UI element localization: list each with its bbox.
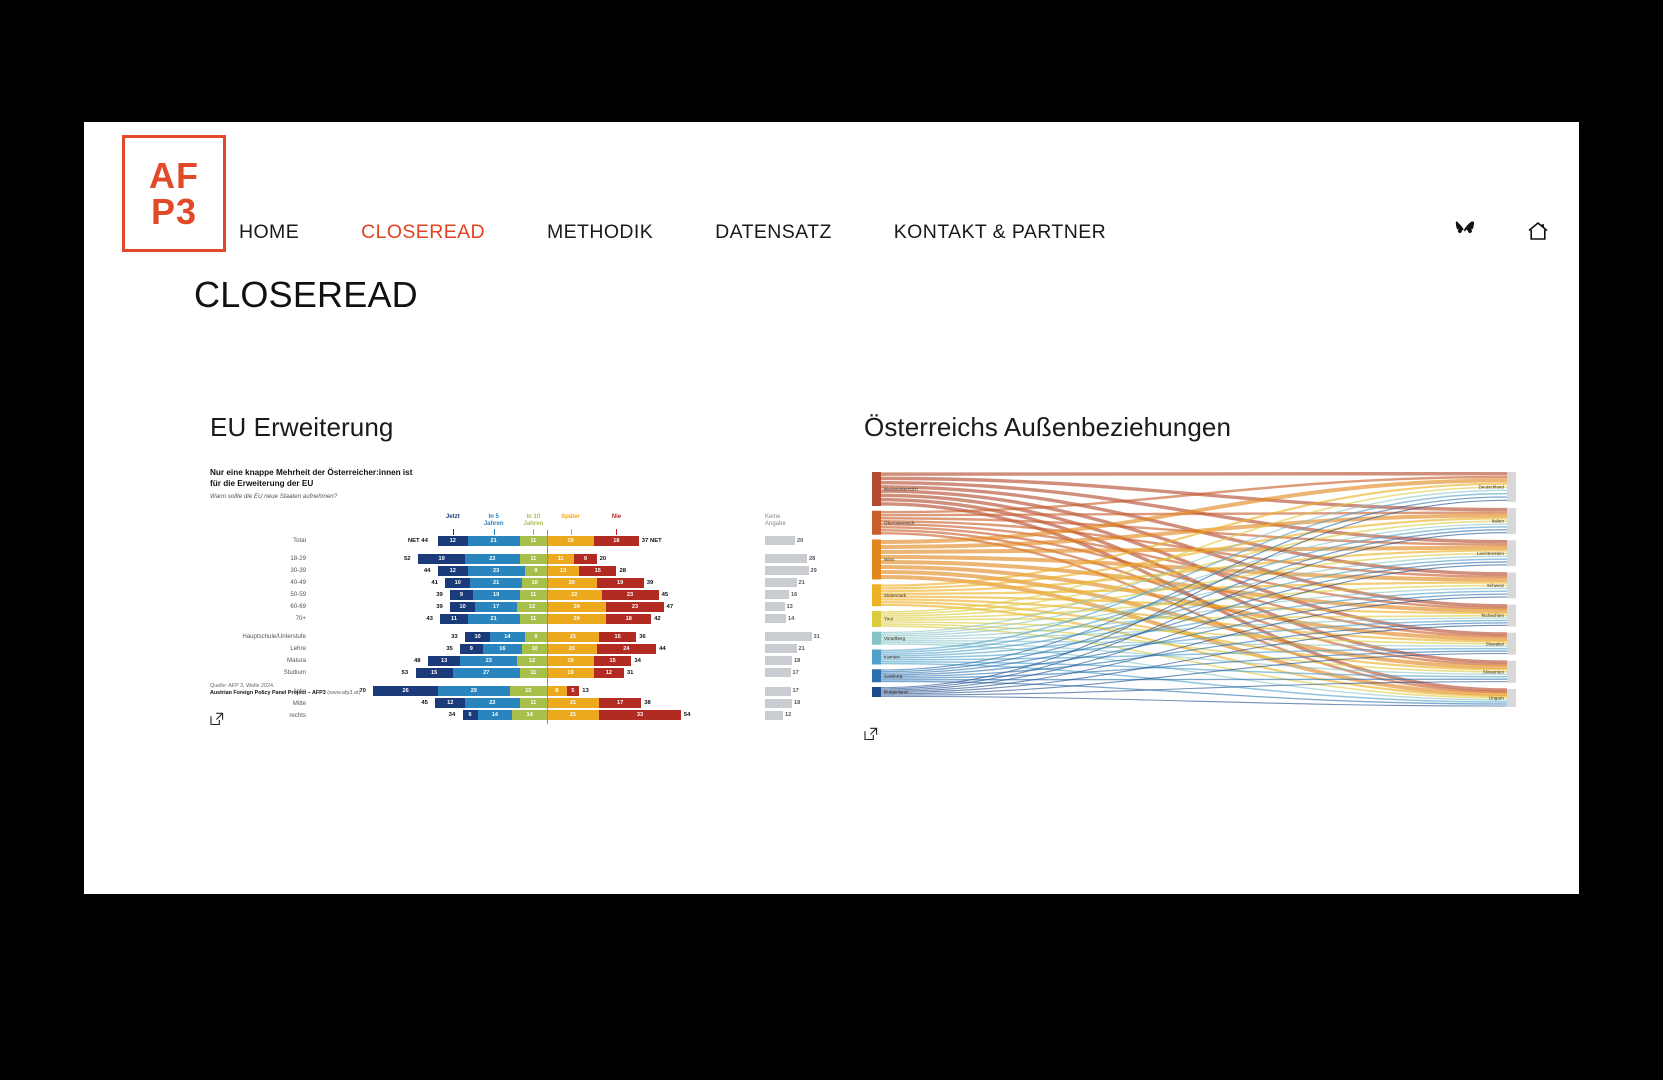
- bar-segment: 18: [594, 536, 639, 546]
- stacked-bar: 1527111912: [416, 668, 624, 678]
- keine-angabe-bar: [765, 699, 792, 708]
- bar-segment: 18: [606, 614, 651, 624]
- stacked-bar: 1323121915: [428, 656, 631, 666]
- keine-angabe-value: 17: [793, 688, 799, 694]
- bar-segment: 6: [463, 710, 478, 720]
- bar-segment: 11: [520, 536, 547, 546]
- external-link-icon[interactable]: [864, 727, 878, 741]
- row-label: links: [210, 688, 306, 695]
- bar-segment: 15: [416, 668, 453, 678]
- bar-segment: 5: [567, 686, 579, 696]
- home-icon[interactable]: [1525, 218, 1551, 244]
- net-left-value: 52: [404, 556, 411, 562]
- keine-angabe-bar: [765, 687, 791, 696]
- bar-segment: 11: [520, 698, 547, 708]
- legend-label-nie: Nie: [612, 514, 621, 521]
- stacked-bar: 192211119: [418, 554, 597, 564]
- keine-angabe-value: 21: [799, 646, 805, 652]
- app-page: AF P3 HOME CLOSEREAD METHODIK DATENSATZ …: [84, 122, 1579, 894]
- bar-segment: 29: [438, 686, 510, 696]
- eu-diverging-bar-chart: JetztIn 5 JahrenIn 10 JahrenSpäterNie To…: [210, 514, 830, 674]
- row-bar-area: 122391315442829: [310, 566, 830, 577]
- bar-segment: 11: [520, 614, 547, 624]
- row-bar-area: 1121112418434214: [310, 614, 830, 625]
- bar-segment: 12: [517, 602, 547, 612]
- bar-segment: 9: [525, 632, 547, 642]
- keine-angabe-value: 21: [799, 580, 805, 586]
- keine-angabe-bar: [765, 590, 789, 599]
- row-bar-area: 1527111912533117: [310, 668, 830, 679]
- sankey-source-node-label: Steiermark: [884, 593, 907, 598]
- chart-row: 60-691017122423394713: [210, 602, 830, 613]
- bar-segment: 26: [373, 686, 437, 696]
- net-right-value: 31: [627, 670, 634, 676]
- row-label: Studium: [210, 669, 306, 676]
- chart-row: 40-491021102019413921: [210, 578, 830, 589]
- bar-segment: 11: [520, 668, 547, 678]
- stacked-bar: 1221111918: [438, 536, 639, 546]
- sankey-source-node-label: Tirol: [884, 617, 893, 622]
- net-left-value: 53: [402, 670, 409, 676]
- keine-angabe-value: 16: [791, 592, 797, 598]
- bar-segment: 21: [468, 614, 520, 624]
- chart-row: 18-29192211119522028: [210, 554, 830, 565]
- sankey-source-node-label: Oberösterreich: [884, 520, 915, 525]
- sankey-target-node-label: Ungarn: [1489, 696, 1505, 701]
- net-left-value: NET 44: [408, 538, 428, 544]
- bar-segment: 9: [525, 566, 547, 576]
- keine-angabe-bar: [765, 536, 795, 545]
- sankey-target-node-label: Deutschland: [1478, 485, 1504, 490]
- eu-figure-headline: Nur eine knappe Mehrheit der Österreiche…: [210, 468, 830, 490]
- sankey-source-node-label: Niederösterreich: [884, 487, 918, 492]
- legend-tick: [533, 529, 534, 535]
- bar-segment: 14: [490, 632, 525, 642]
- sankey-source-node[interactable]: [872, 472, 881, 506]
- sankey-target-node[interactable]: [1507, 540, 1516, 566]
- keine-angabe-value: 18: [794, 658, 800, 664]
- keine-angabe-value: 31: [814, 634, 820, 640]
- chart-row: Total1221111918NET 4437 NET20: [210, 536, 830, 547]
- bar-segment: 14: [478, 710, 513, 720]
- sankey-source-node-label: Salzburg: [884, 673, 903, 678]
- chart-row: 70+1121112418434214: [210, 614, 830, 625]
- sankey-source-node-label: Burgenland: [884, 690, 908, 695]
- net-right-value: 13: [582, 688, 589, 694]
- bar-segment: 27: [453, 668, 520, 678]
- bar-segment: 12: [438, 566, 468, 576]
- sankey-source-node-label: Kärnten: [884, 655, 901, 660]
- keine-angabe-value: 14: [788, 616, 794, 622]
- net-left-value: 41: [431, 580, 438, 586]
- bar-segment: 20: [547, 644, 597, 654]
- legend-label-sp-ter: Später: [561, 514, 580, 521]
- bar-segment: 11: [547, 554, 574, 564]
- sankey-target-node-label: Slowakei: [1486, 641, 1504, 646]
- stacked-bar: 101492115: [465, 632, 636, 642]
- eu-figure-subtitle: Wann sollte die EU neue Staaten aufnehme…: [210, 493, 830, 500]
- net-right-value: 45: [662, 592, 669, 598]
- net-right-value: 38: [644, 700, 651, 706]
- row-label: 18-29: [210, 555, 306, 562]
- legend-tick: [494, 529, 495, 535]
- bar-segment: 10: [450, 602, 475, 612]
- section-title-eu: EU Erweiterung: [210, 412, 830, 443]
- bar-segment: 21: [547, 710, 599, 720]
- sankey-target-node-label: Liechtenstein: [1477, 551, 1505, 556]
- row-bar-area: 919112223394516: [310, 590, 830, 601]
- keine-angabe-bar: [765, 632, 812, 641]
- row-bar-area: 26291585701317: [310, 686, 830, 697]
- legend-tick: [571, 529, 572, 535]
- row-bar-area: 1017122423394713: [310, 602, 830, 613]
- keine-angabe-bar: [765, 711, 783, 720]
- sankey-target-node[interactable]: [1507, 605, 1516, 627]
- bar-segment: 22: [465, 554, 520, 564]
- afp3-logo[interactable]: AF P3: [122, 135, 226, 252]
- bar-segment: 21: [547, 632, 599, 642]
- bar-segment: 16: [483, 644, 523, 654]
- nav-item-closeread[interactable]: CLOSEREAD: [361, 217, 485, 248]
- sankey-source-node[interactable]: [872, 650, 881, 665]
- keine-angabe-value: 13: [787, 604, 793, 610]
- bar-segment: 10: [522, 644, 547, 654]
- keine-angabe-header: Keine Angabe: [765, 514, 786, 528]
- page-title: CLOSEREAD: [194, 274, 418, 316]
- chart-row: 50-59919112223394516: [210, 590, 830, 601]
- nav-item-methodik[interactable]: METHODIK: [547, 217, 653, 248]
- bar-segment: 9: [450, 590, 472, 600]
- bar-segment: 24: [547, 602, 607, 612]
- row-label: 50-59: [210, 591, 306, 598]
- bar-segment: 19: [547, 536, 594, 546]
- net-right-value: 42: [654, 616, 661, 622]
- net-left-value: 34: [449, 712, 456, 718]
- nav-item-datensatz[interactable]: DATENSATZ: [715, 217, 832, 248]
- bar-segment: 12: [594, 668, 624, 678]
- bar-segment: 24: [547, 614, 607, 624]
- logo-line-1: AF: [149, 158, 199, 193]
- net-right-value: 44: [659, 646, 666, 652]
- sankey-source-node-label: Vorarlberg: [884, 636, 906, 641]
- bar-segment: 19: [473, 590, 520, 600]
- keine-angabe-bar: [765, 668, 791, 677]
- row-label: 30-39: [210, 567, 306, 574]
- net-left-value: 44: [424, 568, 431, 574]
- row-bar-area: 614142133345412: [310, 710, 830, 721]
- stacked-bar: 916102024: [460, 644, 656, 654]
- bar-segment: 19: [547, 656, 594, 666]
- nav-item-kontakt-partner[interactable]: KONTAKT & PARTNER: [894, 217, 1106, 248]
- stacked-bar: 919112223: [450, 590, 658, 600]
- sankey-target-node[interactable]: [1507, 689, 1516, 707]
- chart-row: rechts614142133345412: [210, 710, 830, 721]
- row-bar-area: 1222112117453818: [310, 698, 830, 709]
- stacked-bar: 1222112117: [435, 698, 641, 708]
- sankey-source-node[interactable]: [872, 687, 881, 697]
- net-right-value: 20: [600, 556, 607, 562]
- net-left-value: 48: [414, 658, 421, 664]
- neutral-divider: [547, 530, 548, 724]
- column-eu-erweiterung: EU Erweiterung Nur eine knappe Mehrheit …: [210, 412, 830, 726]
- bar-segment: 20: [547, 578, 597, 588]
- row-label: 70+: [210, 615, 306, 622]
- bar-segment: 9: [460, 644, 482, 654]
- legend-label-in-10-jahren: In 10 Jahren: [524, 514, 544, 528]
- bar-segment: 15: [579, 566, 616, 576]
- bar-segment: 22: [465, 698, 520, 708]
- keine-angabe-value: 29: [811, 568, 817, 574]
- row-label: Mitte: [210, 700, 306, 707]
- row-bar-area: 916102024354421: [310, 644, 830, 655]
- sankey-source-node[interactable]: [872, 584, 881, 606]
- bar-segment: 21: [470, 578, 522, 588]
- nav-item-home[interactable]: HOME: [239, 217, 299, 248]
- bar-segment: 13: [547, 566, 579, 576]
- chart-row: Matura1323121915483418: [210, 656, 830, 667]
- sankey-target-node[interactable]: [1507, 472, 1516, 502]
- net-right-value: 36: [639, 634, 646, 640]
- bar-segment: 10: [465, 632, 490, 642]
- site-header: AF P3 HOME CLOSEREAD METHODIK DATENSATZ …: [84, 122, 1579, 262]
- bar-segment: 12: [517, 656, 547, 666]
- net-right-value: 54: [684, 712, 691, 718]
- row-label: Total: [210, 537, 306, 544]
- bar-segment: 24: [597, 644, 657, 654]
- keine-angabe-value: 17: [793, 670, 799, 676]
- keine-angabe-bar: [765, 656, 792, 665]
- row-bar-area: 101492115333631: [310, 632, 830, 643]
- sankey-target-node[interactable]: [1507, 633, 1516, 655]
- net-left-value: 45: [421, 700, 428, 706]
- bar-segment: 10: [522, 578, 547, 588]
- sankey-target-node-label: Slowenien: [1483, 669, 1505, 674]
- net-left-value: 43: [426, 616, 433, 622]
- legend-label-jetzt: Jetzt: [446, 514, 460, 521]
- bar-segment: 21: [468, 536, 520, 546]
- bar-segment: 19: [597, 578, 644, 588]
- bar-segment: 11: [520, 554, 547, 564]
- chart-rows: Total1221111918NET 4437 NET2018-29192211…: [210, 536, 830, 722]
- section-title-foreign: Österreichs Außenbeziehungen: [864, 412, 1524, 443]
- sankey-target-node-label: Tschechien: [1481, 613, 1504, 618]
- bar-segment: 23: [468, 566, 525, 576]
- sankey-target-node[interactable]: [1507, 572, 1516, 598]
- bluesky-butterfly-icon[interactable]: [1451, 218, 1477, 244]
- column-aussenbeziehungen: Österreichs Außenbeziehungen Niederöster…: [864, 412, 1524, 741]
- sankey-source-node-label: Wien: [884, 557, 895, 562]
- bar-segment: 15: [599, 632, 636, 642]
- bar-segment: 15: [510, 686, 547, 696]
- bar-segment: 23: [606, 602, 663, 612]
- keine-angabe-value: 28: [809, 556, 815, 562]
- logo-line-2: P3: [151, 194, 197, 229]
- bar-segment: 21: [547, 698, 599, 708]
- sankey-diagram: NiederösterreichOberösterreichWienSteier…: [864, 468, 1524, 713]
- keine-angabe-bar: [765, 578, 797, 587]
- chart-row: links26291585701317: [210, 686, 830, 697]
- header-icon-group: [1451, 218, 1551, 244]
- sankey-target-node[interactable]: [1507, 508, 1516, 534]
- sankey-target-node-label: Italien: [1492, 519, 1505, 524]
- bar-segment: 10: [445, 578, 470, 588]
- main-navigation: HOME CLOSEREAD METHODIK DATENSATZ KONTAK…: [239, 217, 1106, 248]
- chart-legend: JetztIn 5 JahrenIn 10 JahrenSpäterNie: [210, 514, 830, 536]
- net-left-value: 70: [359, 688, 366, 694]
- row-bar-area: 1221111918NET 4437 NET20: [310, 536, 830, 547]
- row-label: Hauptschule/Unterstufe: [210, 633, 306, 640]
- net-right-value: 37 NET: [642, 538, 662, 544]
- chart-row: Mitte1222112117453818: [210, 698, 830, 709]
- bar-segment: 12: [435, 698, 465, 708]
- net-right-value: 34: [634, 658, 641, 664]
- bar-segment: 17: [475, 602, 517, 612]
- stacked-bar: 614142133: [463, 710, 681, 720]
- bar-segment: 17: [599, 698, 641, 708]
- keine-angabe-value: 12: [785, 712, 791, 718]
- net-left-value: 35: [446, 646, 453, 652]
- sankey-source-node[interactable]: [872, 632, 881, 645]
- bar-segment: 15: [594, 656, 631, 666]
- chart-row: Hauptschule/Unterstufe101492115333631: [210, 632, 830, 643]
- net-left-value: 39: [436, 592, 443, 598]
- keine-angabe-value: 18: [794, 700, 800, 706]
- sankey-source-node[interactable]: [872, 611, 881, 627]
- row-bar-area: 1021102019413921: [310, 578, 830, 589]
- keine-angabe-bar: [765, 554, 807, 563]
- sankey-source-node[interactable]: [872, 540, 881, 580]
- keine-angabe-bar: [765, 614, 786, 623]
- row-label: Matura: [210, 657, 306, 664]
- stacked-bar: 1017122423: [450, 602, 663, 612]
- bar-segment: 9: [574, 554, 596, 564]
- eu-figure: Nur eine knappe Mehrheit der Österreiche…: [210, 468, 830, 726]
- bar-segment: 33: [599, 710, 681, 720]
- chart-row: Studium1527111912533117: [210, 668, 830, 679]
- bar-segment: 23: [460, 656, 517, 666]
- chart-row: Lehre916102024354421: [210, 644, 830, 655]
- bar-segment: 8: [547, 686, 567, 696]
- legend-tick: [616, 529, 617, 535]
- row-label: 40-49: [210, 579, 306, 586]
- net-right-value: 28: [619, 568, 626, 574]
- sankey-source-node[interactable]: [872, 511, 881, 535]
- keine-angabe-bar: [765, 644, 797, 653]
- row-label: 60-69: [210, 603, 306, 610]
- row-label: rechts: [210, 712, 306, 719]
- sankey-svg: NiederösterreichOberösterreichWienSteier…: [864, 468, 1524, 713]
- eu-headline-line-1: Nur eine knappe Mehrheit der Österreiche…: [210, 468, 830, 479]
- net-right-value: 39: [647, 580, 654, 586]
- keine-angabe-value: 20: [797, 538, 803, 544]
- sankey-source-node[interactable]: [872, 669, 881, 682]
- keine-angabe-bar: [765, 602, 785, 611]
- row-label: Lehre: [210, 645, 306, 652]
- bar-segment: 11: [520, 590, 547, 600]
- bar-segment: 13: [428, 656, 460, 666]
- bar-segment: 22: [547, 590, 602, 600]
- stacked-bar: 122391315: [438, 566, 617, 576]
- bar-segment: 12: [438, 536, 468, 546]
- net-left-value: 39: [436, 604, 443, 610]
- stacked-bar: 26291585: [373, 686, 579, 696]
- bar-segment: 23: [602, 590, 659, 600]
- net-left-value: 33: [451, 634, 458, 640]
- eu-headline-line-2: für die Erweiterung der EU: [210, 479, 830, 490]
- net-right-value: 47: [667, 604, 674, 610]
- keine-angabe-bar: [765, 566, 809, 575]
- stacked-bar: 1021102019: [445, 578, 643, 588]
- bar-segment: 19: [418, 554, 465, 564]
- row-bar-area: 1323121915483418: [310, 656, 830, 667]
- chart-row: 30-39122391315442829: [210, 566, 830, 577]
- legend-label-in-5-jahren: In 5 Jahren: [484, 514, 504, 528]
- sankey-target-node-label: Schweiz: [1487, 583, 1505, 588]
- bar-segment: 19: [547, 668, 594, 678]
- bar-segment: 14: [512, 710, 547, 720]
- legend-tick: [453, 529, 454, 535]
- bar-segment: 11: [440, 614, 467, 624]
- sankey-target-node[interactable]: [1507, 661, 1516, 683]
- row-bar-area: 192211119522028: [310, 554, 830, 565]
- stacked-bar: 1121112418: [440, 614, 651, 624]
